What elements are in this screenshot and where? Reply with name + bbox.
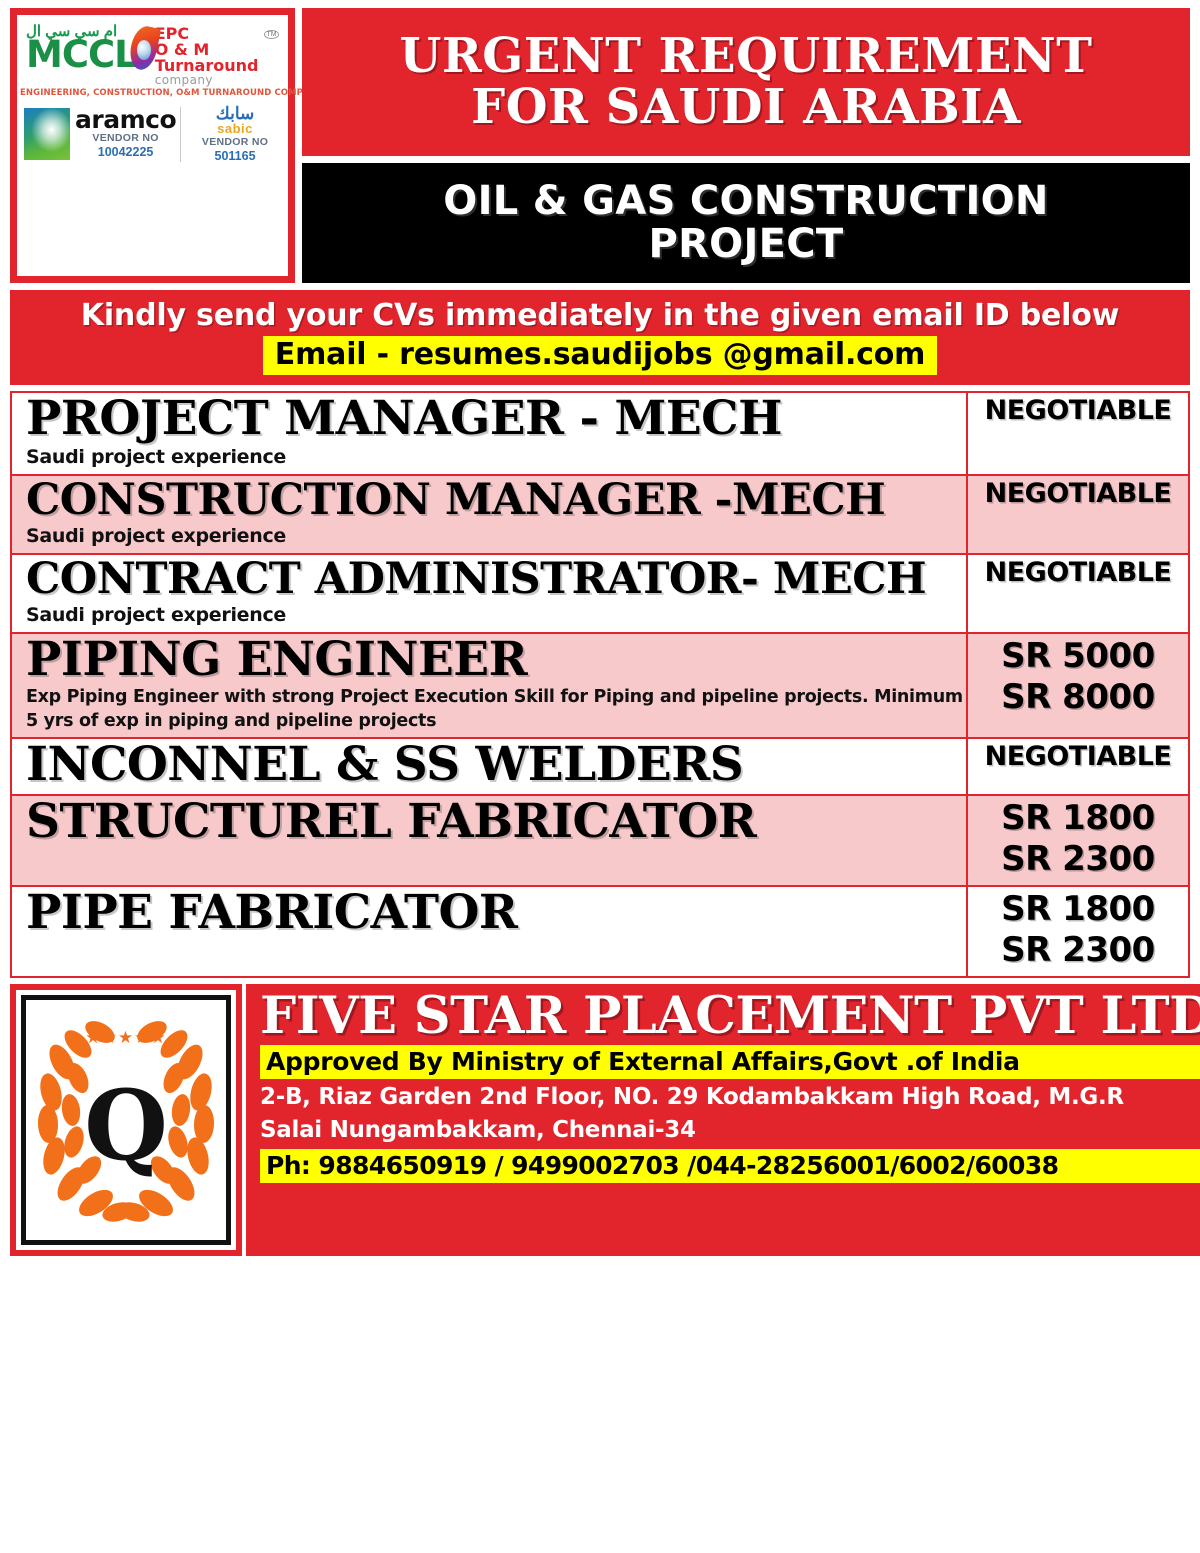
job-title: PIPE FABRICATOR bbox=[26, 889, 966, 938]
job-title: PROJECT MANAGER - MECH bbox=[26, 395, 966, 444]
job-title: CONSTRUCTION MANAGER -MECH bbox=[26, 478, 966, 523]
job-salary-value: SR 2300 bbox=[968, 930, 1188, 971]
job-title: INCONNEL & SS WELDERS bbox=[26, 741, 966, 790]
job-description: Saudi project experience bbox=[26, 523, 966, 549]
header-banners: URGENT REQUIREMENT FOR SAUDI ARABIA OIL … bbox=[302, 8, 1190, 283]
aramco-vendor-label: VENDOR NO bbox=[92, 132, 158, 145]
job-salary-cell: SR 5000SR 8000 bbox=[966, 634, 1188, 737]
urgent-line-1: URGENT REQUIREMENT bbox=[399, 31, 1092, 82]
job-title-cell: PROJECT MANAGER - MECHSaudi project expe… bbox=[12, 393, 966, 474]
job-title: CONTRACT ADMINISTRATOR- MECH bbox=[26, 557, 966, 602]
epc-line-3: Turnaround bbox=[155, 58, 259, 74]
job-salary-value: SR 5000 bbox=[968, 636, 1188, 677]
aramco-badge: aramco VENDOR NO 10042225 bbox=[24, 108, 176, 160]
aramco-logo-icon bbox=[24, 108, 70, 160]
sabic-badge: سابك sabic VENDOR NO 501165 bbox=[189, 105, 281, 164]
mccl-brandmark: ام سي سي ال MCCL EPC O & M Turnaround co… bbox=[20, 19, 285, 86]
job-salary-value: NEGOTIABLE bbox=[968, 741, 1188, 774]
agency-details: FIVE STAR PLACEMENT PVT LTD Approved By … bbox=[246, 984, 1200, 1256]
table-row: PROJECT MANAGER - MECHSaudi project expe… bbox=[12, 393, 1188, 476]
job-title-cell: CONSTRUCTION MANAGER -MECHSaudi project … bbox=[12, 476, 966, 553]
agency-address-line-2: Salai Nungambakkam, Chennai-34 bbox=[260, 1115, 1200, 1145]
sabic-vendor-number: 501165 bbox=[215, 149, 256, 163]
agency-monogram: Q bbox=[26, 1000, 226, 1240]
job-title-cell: PIPE FABRICATOR bbox=[12, 887, 966, 976]
job-description: Exp Piping Engineer with strong Project … bbox=[26, 685, 966, 733]
epc-line-4: company bbox=[155, 74, 259, 86]
epc-text-block: EPC O & M Turnaround company bbox=[155, 24, 259, 86]
mccl-logo-box: ام سي سي ال MCCL EPC O & M Turnaround co… bbox=[10, 8, 295, 283]
job-salary-cell: NEGOTIABLE bbox=[966, 739, 1188, 794]
job-salary-value: NEGOTIABLE bbox=[968, 478, 1188, 511]
job-salary-value: NEGOTIABLE bbox=[968, 395, 1188, 428]
mccl-tagline: ENGINEERING, CONSTRUCTION, O&M TURNAROUN… bbox=[20, 88, 285, 98]
job-salary-cell: SR 1800SR 2300 bbox=[966, 887, 1188, 976]
email-address[interactable]: Email - resumes.saudijobs @gmail.com bbox=[263, 336, 937, 375]
sabic-arabic-wordmark: سابك bbox=[216, 105, 254, 122]
job-salary-value: SR 8000 bbox=[968, 677, 1188, 718]
urgent-line-2: FOR SAUDI ARABIA bbox=[471, 82, 1021, 133]
job-salary-value: NEGOTIABLE bbox=[968, 557, 1188, 590]
table-row: PIPE FABRICATORSR 1800SR 2300 bbox=[12, 887, 1188, 978]
table-row: CONSTRUCTION MANAGER -MECHSaudi project … bbox=[12, 476, 1188, 555]
table-row: CONTRACT ADMINISTRATOR- MECHSaudi projec… bbox=[12, 555, 1188, 634]
job-title-cell: CONTRACT ADMINISTRATOR- MECHSaudi projec… bbox=[12, 555, 966, 632]
job-salary-cell: NEGOTIABLE bbox=[966, 476, 1188, 553]
agency-name: FIVE STAR PLACEMENT PVT LTD bbox=[260, 990, 1200, 1042]
job-salary-cell: NEGOTIABLE bbox=[966, 393, 1188, 474]
job-listing-table: PROJECT MANAGER - MECHSaudi project expe… bbox=[10, 391, 1190, 978]
job-title-cell: STRUCTUREL FABRICATOR bbox=[12, 796, 966, 885]
project-line-2: PROJECT bbox=[648, 223, 843, 266]
job-description: Saudi project experience bbox=[26, 444, 966, 470]
job-salary-value: SR 1800 bbox=[968, 798, 1188, 839]
vendor-divider bbox=[180, 107, 181, 162]
job-title-cell: INCONNEL & SS WELDERS bbox=[12, 739, 966, 794]
aramco-wordmark: aramco bbox=[75, 108, 176, 132]
job-description: Saudi project experience bbox=[26, 602, 966, 628]
job-title: PIPING ENGINEER bbox=[26, 636, 966, 685]
job-salary-value: SR 1800 bbox=[968, 889, 1188, 930]
aramco-text: aramco VENDOR NO 10042225 bbox=[75, 108, 176, 159]
vendor-badges: aramco VENDOR NO 10042225 سابك sabic VEN… bbox=[20, 105, 285, 164]
agency-logo-box: ★★★★★ Q bbox=[10, 984, 242, 1256]
agency-phone-numbers[interactable]: Ph: 9884650919 / 9499002703 /044-2825600… bbox=[260, 1149, 1200, 1183]
cv-submission-banner: Kindly send your CVs immediately in the … bbox=[10, 290, 1190, 385]
table-row: PIPING ENGINEERExp Piping Engineer with … bbox=[12, 634, 1188, 739]
job-salary-value: SR 2300 bbox=[968, 839, 1188, 880]
trademark-icon: TM bbox=[264, 30, 278, 39]
mccl-brand-text: ام سي سي ال MCCL bbox=[26, 24, 137, 72]
project-line-1: OIL & GAS CONSTRUCTION bbox=[443, 180, 1048, 223]
job-salary-cell: NEGOTIABLE bbox=[966, 555, 1188, 632]
cv-instruction-text: Kindly send your CVs immediately in the … bbox=[81, 298, 1119, 333]
table-row: INCONNEL & SS WELDERSNEGOTIABLE bbox=[12, 739, 1188, 796]
poster-header: ام سي سي ال MCCL EPC O & M Turnaround co… bbox=[10, 8, 1190, 283]
project-type-banner: OIL & GAS CONSTRUCTION PROJECT bbox=[302, 163, 1190, 283]
table-row: STRUCTUREL FABRICATORSR 1800SR 2300 bbox=[12, 796, 1188, 887]
flame-droplet-icon bbox=[131, 26, 157, 70]
sabic-wordmark: sabic bbox=[217, 122, 253, 136]
agency-logo-frame: ★★★★★ Q bbox=[21, 995, 231, 1245]
job-salary-cell: SR 1800SR 2300 bbox=[966, 796, 1188, 885]
urgent-requirement-banner: URGENT REQUIREMENT FOR SAUDI ARABIA bbox=[302, 8, 1190, 156]
recruitment-poster: ام سي سي ال MCCL EPC O & M Turnaround co… bbox=[0, 0, 1200, 1553]
poster-footer: ★★★★★ Q FIVE STAR PLACEMENT PVT LTD Appr… bbox=[10, 984, 1190, 1256]
aramco-vendor-number: 10042225 bbox=[98, 145, 154, 159]
sabic-vendor-label: VENDOR NO bbox=[202, 136, 268, 149]
job-title: STRUCTUREL FABRICATOR bbox=[26, 798, 966, 847]
agency-approval-badge: Approved By Ministry of External Affairs… bbox=[260, 1045, 1200, 1079]
job-title-cell: PIPING ENGINEERExp Piping Engineer with … bbox=[12, 634, 966, 737]
agency-address-line-1: 2-B, Riaz Garden 2nd Floor, NO. 29 Kodam… bbox=[260, 1082, 1200, 1112]
mccl-wordmark: MCCL bbox=[26, 39, 137, 72]
